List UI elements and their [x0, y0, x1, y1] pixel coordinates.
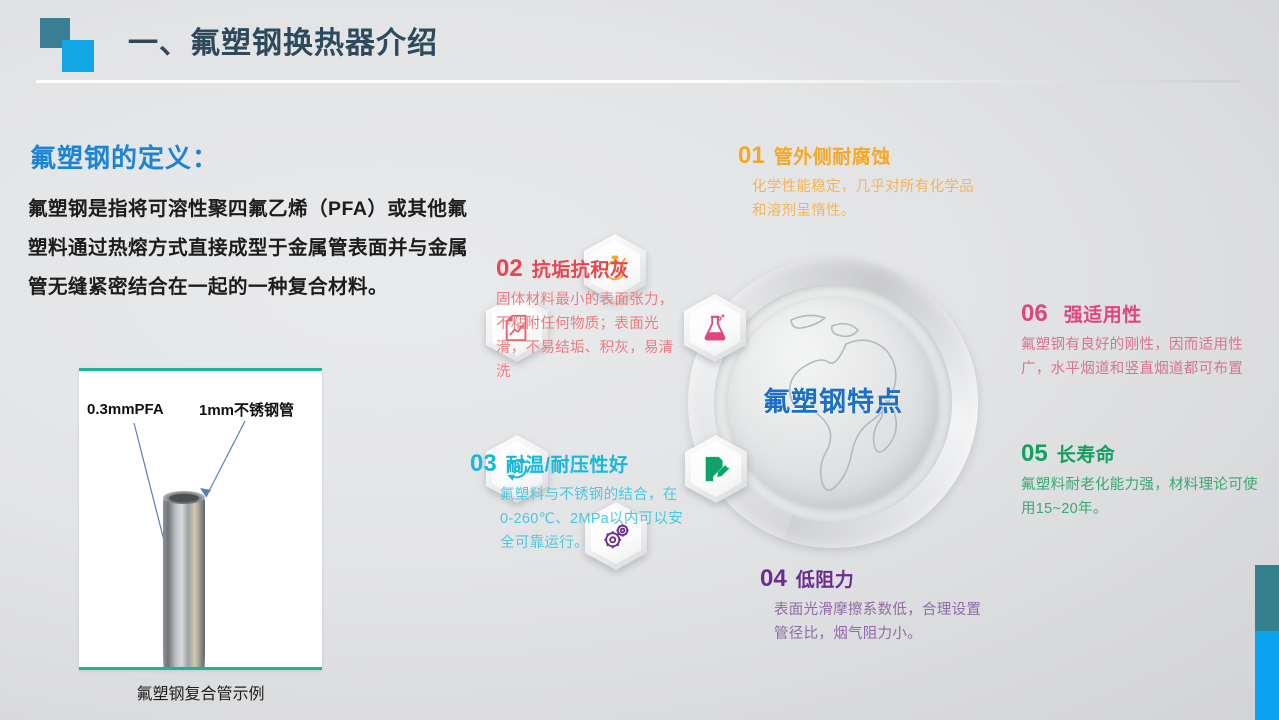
features-infographic: 氟塑钢特点	[470, 110, 1270, 720]
feature-body: 氟塑钢有良好的刚性，因而适用性广，水平烟道和竖直烟道都可布置	[1021, 333, 1271, 381]
feature-title: 抗垢抗积灰	[532, 260, 630, 281]
edge-accent-dark	[1255, 565, 1279, 631]
feature-number: 01	[738, 142, 765, 169]
flask-icon	[700, 313, 730, 343]
feature-block-04: 04低阻力 表面光滑摩擦系数低，合理设置管径比，烟气阻力小。	[760, 565, 990, 646]
feature-number: 05	[1021, 440, 1048, 467]
feature-title: 强适用性	[1064, 305, 1142, 326]
feature-block-02: 02抗垢抗积灰 固体材料最小的表面张力，不粘附任何物质；表面光滑，不易结垢、积灰…	[496, 255, 686, 384]
feature-number: 06	[1021, 300, 1048, 327]
feature-block-05: 05长寿命 氟塑料耐老化能力强，材料理论可使用15~20年。	[1021, 440, 1271, 521]
feature-block-03: 03耐温/耐压性好 氟塑料与不锈钢的结合，在0-260℃、2MPa以内可以安全可…	[470, 450, 690, 555]
page-title: 一、氟塑钢换热器介绍	[128, 18, 438, 62]
center-label: 氟塑钢特点	[688, 380, 978, 419]
badge-flask[interactable]	[684, 294, 746, 362]
slide-header: 一、氟塑钢换热器介绍	[0, 0, 1279, 96]
header-square-bright-icon	[62, 40, 94, 72]
composite-pipe-photo: 0.3mmPFA 1mm不锈钢管	[79, 368, 322, 670]
feature-block-01: 01管外侧耐腐蚀 化学性能稳定，几乎对所有化学品和溶剂呈惰性。	[738, 142, 988, 223]
header-divider	[36, 80, 1241, 83]
badge-edit-document[interactable]	[685, 435, 747, 503]
edit-document-icon	[701, 454, 731, 484]
feature-body: 表面光滑摩擦系数低，合理设置管径比，烟气阻力小。	[760, 598, 990, 646]
feature-body: 化学性能稳定，几乎对所有化学品和溶剂呈惰性。	[738, 175, 988, 223]
feature-number: 02	[496, 255, 523, 282]
photo-caption: 氟塑钢复合管示例	[79, 680, 322, 704]
feature-title: 管外侧耐腐蚀	[774, 147, 891, 168]
feature-title: 长寿命	[1057, 445, 1116, 466]
feature-body: 固体材料最小的表面张力，不粘附任何物质；表面光滑，不易结垢、积灰，易清洗	[496, 288, 686, 384]
feature-title: 耐温/耐压性好	[506, 455, 629, 476]
feature-title: 低阻力	[796, 570, 855, 591]
feature-number: 03	[470, 450, 497, 477]
definition-title: 氟塑钢的定义：	[30, 138, 219, 175]
feature-block-06: 06强适用性 氟塑钢有良好的刚性，因而适用性广，水平烟道和竖直烟道都可布置	[1021, 300, 1271, 381]
feature-body: 氟塑料耐老化能力强，材料理论可使用15~20年。	[1021, 473, 1271, 521]
feature-body: 氟塑料与不锈钢的结合，在0-260℃、2MPa以内可以安全可靠运行。	[470, 483, 690, 555]
edge-accent-bright	[1255, 631, 1279, 720]
definition-body: 氟塑钢是指将可溶性聚四氟乙烯（PFA）或其他氟塑料通过热熔方式直接成型于金属管表…	[28, 190, 480, 307]
pipe-bore-graphic	[169, 494, 199, 502]
pipe-body-graphic	[163, 495, 205, 670]
feature-number: 04	[760, 565, 787, 592]
